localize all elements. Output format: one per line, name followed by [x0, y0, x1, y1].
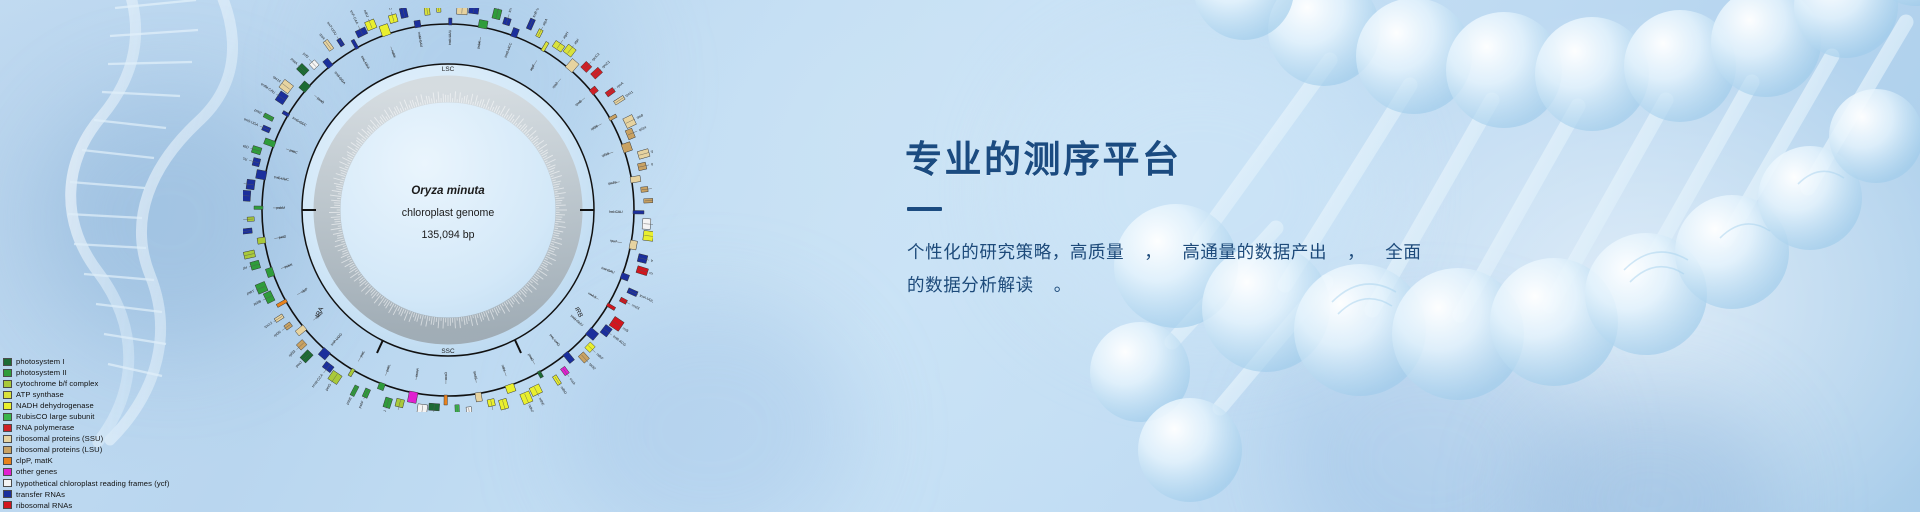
- legend-color-swatch: [3, 479, 12, 487]
- legend-color-swatch: [3, 435, 12, 443]
- legend-color-swatch: [3, 490, 12, 498]
- gene-feature-box: [282, 111, 290, 117]
- legend-item-label: transfer RNAs: [16, 489, 65, 500]
- title-underline-rule: [907, 207, 942, 211]
- gene-label: trnT-GGU: [243, 154, 248, 162]
- gene-feature-box: [563, 351, 575, 363]
- legend-color-swatch: [3, 501, 12, 509]
- gene-label: trnG-GCC: [292, 116, 308, 128]
- gene-feature-box: [629, 240, 638, 250]
- legend-item: ribosomal proteins (LSU): [3, 444, 243, 455]
- gene-label: rps3: [650, 148, 653, 154]
- gene-label: psaA: [290, 57, 299, 66]
- gene-label: psbB: [253, 299, 263, 306]
- legend-item: ribosomal proteins (SSU): [3, 433, 243, 444]
- legend-item-label: other genes: [16, 466, 57, 477]
- gene-label: rpoB: [574, 99, 583, 107]
- gene-label: trnP-UGG: [330, 332, 343, 347]
- gene-label: atpF: [529, 64, 536, 72]
- legend-color-swatch: [3, 446, 12, 454]
- gene-label: petD: [279, 234, 287, 239]
- gene-label: rps19: [608, 180, 617, 185]
- gene-label: trnL-UAG: [549, 333, 562, 347]
- gene-label: ndhC: [387, 8, 393, 11]
- gene-label: trnW-CCA: [311, 373, 324, 389]
- gene-label: rpl16: [601, 152, 610, 158]
- gene-label: trnL-UAA: [360, 55, 371, 70]
- gene-label: ccsA: [569, 377, 577, 386]
- gene-label: trnS-GCU: [508, 8, 517, 13]
- gene-label: trnV-GAC: [650, 259, 653, 267]
- gene-label: trnM-CAU: [417, 32, 424, 48]
- gene-label: trnF-GAA: [349, 10, 359, 26]
- gene-label: rps11: [625, 90, 634, 98]
- gene-feature-box: [620, 273, 630, 282]
- gene-feature-box: [407, 391, 418, 403]
- gene-label: trnK-UUU: [448, 29, 452, 45]
- legend-item: NADH dehydrogenase: [3, 400, 243, 411]
- description-line1-part3: 全面: [1385, 243, 1421, 263]
- gene-label: psbC: [289, 148, 298, 155]
- gene-feature-box: [633, 211, 644, 215]
- gene-label: psbN: [284, 262, 293, 269]
- legend-item: hypothetical chloroplast reading frames …: [3, 478, 243, 489]
- gene-feature-box: [606, 303, 615, 311]
- gene-label: rps14: [272, 75, 281, 84]
- gene-label: psbD: [243, 143, 250, 149]
- gene-feature-box: [348, 368, 355, 377]
- legend-color-swatch: [3, 413, 12, 421]
- gene-label: rpl33: [288, 349, 296, 357]
- banner-copy: 专业的测序平台 个性化的研究策略，高质量，高通量的数据产出，全面的数据分析解读。: [905, 137, 1525, 303]
- gene-label: psbT: [246, 289, 256, 296]
- gene-feature-box: [265, 267, 275, 278]
- gene-label: atpH: [562, 31, 570, 40]
- gene-label: trnR-UCU: [532, 8, 542, 18]
- gene-feature-box: [414, 20, 421, 28]
- gene-feature-box: [478, 20, 488, 29]
- legend-color-swatch: [3, 424, 12, 432]
- gene-label: rps7: [610, 239, 617, 244]
- gene-label: trnG-UCC: [504, 42, 513, 58]
- description-line1-comma: ，: [1144, 243, 1162, 263]
- gene-feature-box: [585, 327, 598, 340]
- legend-color-swatch: [3, 380, 12, 388]
- gene-label: ndhE: [538, 397, 545, 407]
- gene-label: rpl14: [638, 125, 647, 132]
- gene-feature-box: [541, 41, 549, 51]
- gene-label: rpl20: [273, 330, 282, 338]
- gene-feature-box: [475, 392, 482, 402]
- gene-label: psaB: [316, 96, 325, 105]
- page-title: 专业的测序平台: [905, 137, 1525, 183]
- gene-feature-box: [630, 175, 641, 183]
- promo-banner: LSC IRA SSC IRB trnK-UUUrps16trnQ-UUGpsb…: [0, 0, 1920, 512]
- gene-feature-box: [505, 383, 516, 393]
- legend-color-swatch: [3, 468, 12, 476]
- description-line1-part1: 个性化的研究策略，高质量: [907, 243, 1124, 263]
- gene-label: accD: [444, 372, 448, 380]
- gene-label: ndhF: [596, 352, 605, 360]
- gene-feature-box: [276, 299, 287, 307]
- gene-label: psbL: [385, 364, 391, 373]
- gene-feature-box: [379, 24, 391, 37]
- gene-label: petA: [394, 411, 400, 412]
- gene-feature-box: [323, 58, 333, 69]
- legend-color-swatch: [3, 391, 12, 399]
- gene-label: trnS-UGA: [243, 117, 259, 127]
- gene-label: rps4: [318, 33, 325, 41]
- legend-color-swatch: [3, 402, 12, 410]
- gene-label: psbJ: [381, 410, 387, 412]
- legend-item-label: ribosomal RNAs: [16, 500, 72, 511]
- legend-item-label: photosystem II: [16, 367, 67, 378]
- gene-label: ndhJ: [363, 9, 370, 18]
- legend-item: transfer RNAs: [3, 489, 243, 500]
- gene-label: cemA: [414, 367, 420, 377]
- background-blob: [1520, 390, 1780, 512]
- gene-label: trnT-UGU: [326, 21, 338, 36]
- description-line1-comma2: ，: [1347, 243, 1365, 263]
- gene-feature-box: [299, 81, 311, 93]
- legend-item-label: ATP synthase: [16, 389, 64, 400]
- legend-item-label: ribosomal proteins (SSU): [16, 433, 103, 444]
- gene-label: ndhI: [500, 364, 506, 372]
- gene-feature-box: [589, 86, 598, 95]
- gene-label: trnI-CAU: [609, 210, 623, 214]
- description-line1-part2: 高通量的数据产出: [1182, 243, 1327, 263]
- genome-length-label: 135,094 bp: [421, 229, 474, 241]
- gene-label: psbE: [345, 396, 353, 406]
- gene-label: rpl32: [588, 362, 596, 370]
- gene-label: trnS-GGA: [333, 71, 346, 86]
- gene-label: atpA: [542, 17, 549, 26]
- gene-label: rpl22: [651, 161, 653, 167]
- legend-item-label: clpP, matK: [16, 455, 53, 466]
- gene-label: petG: [325, 383, 333, 392]
- gene-label: psbK: [476, 40, 482, 49]
- gene-label: rpl36: [590, 124, 599, 131]
- gene-feature-box: [565, 59, 579, 73]
- gene-label: psbZ: [254, 108, 264, 116]
- gene-feature-box: [295, 325, 307, 336]
- gene-label: trnA-UGC: [639, 294, 653, 304]
- gene-feature-box: [449, 18, 452, 25]
- gene-label: rpoA: [616, 81, 625, 89]
- gene-label: atpI: [573, 38, 580, 45]
- region-label-lsc: LSC: [442, 66, 455, 73]
- gene-feature-box: [608, 114, 617, 121]
- gene-label: rrn16: [649, 271, 653, 277]
- gene-label: psbM: [276, 206, 285, 210]
- legend-item: other genes: [3, 466, 243, 477]
- gene-feature-box: [351, 39, 359, 49]
- gene-feature-box: [511, 27, 520, 38]
- genome-type-label: chloroplast genome: [402, 207, 495, 219]
- legend-item-label: RubisCO large subunit: [16, 411, 95, 422]
- legend-item-label: hypothetical chloroplast reading frames …: [16, 478, 170, 489]
- gene-feature-box: [256, 170, 267, 181]
- gene-label: rpoC1: [601, 60, 611, 69]
- gene-label: psbF: [358, 400, 365, 409]
- gene-label: rps15: [473, 371, 478, 380]
- gene-label: petL: [359, 350, 366, 358]
- gene-label: psaC: [527, 353, 535, 362]
- legend-item: RNA polymerase: [3, 422, 243, 433]
- gene-label: trnR-ACG: [612, 335, 627, 348]
- gene-feature-box: [257, 237, 266, 244]
- gene-feature-box: [621, 142, 632, 153]
- description-line2-period: 。: [1054, 276, 1072, 296]
- legend-item: ATP synthase: [3, 389, 243, 400]
- legend-item: clpP, matK: [3, 455, 243, 466]
- gene-label: rrn5: [622, 326, 629, 333]
- gene-label: ndhG: [527, 404, 534, 412]
- gene-feature-box: [254, 206, 263, 210]
- gene-label: ndhK: [390, 50, 397, 60]
- gene-label: psbH: [243, 265, 248, 271]
- gene-label: rpoC2: [591, 52, 601, 62]
- legend-item-label: ribosomal proteins (LSU): [16, 444, 102, 455]
- legend-item: photosystem II: [3, 367, 243, 378]
- gene-label: ndhA: [504, 411, 510, 412]
- legend-item-label: cytochrome b/f complex: [16, 378, 98, 389]
- gene-label: trnE-UUC: [274, 175, 290, 182]
- chloroplast-genome-map: LSC IRA SSC IRB trnK-UUUrps16trnQ-UUGpsb…: [243, 8, 653, 412]
- description-line2: 的数据分析解读: [907, 276, 1034, 296]
- genome-species-name: Oryza minuta: [411, 184, 485, 197]
- gene-label: rrn4.5: [587, 291, 597, 299]
- gene-label: clpP: [301, 287, 309, 294]
- gene-label: trnfM-CAU: [260, 82, 276, 95]
- gene-label: rrn23: [631, 303, 640, 310]
- background-blob: [1280, 330, 1580, 512]
- legend-color-swatch: [3, 457, 12, 465]
- legend-item: photosystem I: [3, 356, 243, 367]
- legend-color-swatch: [3, 369, 12, 377]
- legend-item: RubisCO large subunit: [3, 411, 243, 422]
- gene-label: trnI-GAU: [601, 266, 616, 275]
- gene-label: rps8: [636, 113, 644, 120]
- legend-item: cytochrome b/f complex: [3, 378, 243, 389]
- legend-item-label: RNA polymerase: [16, 422, 74, 433]
- gene-label: psaJ: [295, 360, 303, 368]
- gene-label: ndhD: [560, 386, 568, 396]
- legend-item-label: NADH dehydrogenase: [16, 400, 94, 411]
- gene-feature-box: [537, 370, 543, 378]
- legend-item-label: photosystem I: [16, 356, 65, 367]
- banner-description: 个性化的研究策略，高质量，高通量的数据产出，全面的数据分析解读。: [907, 237, 1432, 303]
- gene-feature-box: [318, 347, 331, 360]
- gene-category-legend: photosystem Iphotosystem IIcytochrome b/…: [3, 356, 243, 511]
- legend-item: ribosomal RNAs: [3, 500, 243, 511]
- gene-label: rps12: [263, 321, 273, 329]
- gene-label: ycf3: [302, 52, 309, 59]
- legend-color-swatch: [3, 358, 12, 366]
- gene-feature-box: [264, 138, 276, 148]
- region-label-ssc: SSC: [441, 348, 455, 355]
- gene-feature-box: [444, 395, 448, 405]
